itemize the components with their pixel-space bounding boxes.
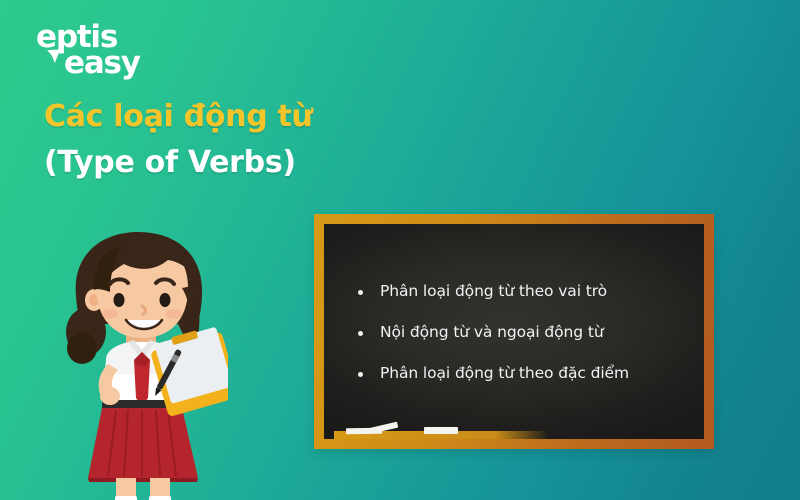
- list-item: Phân loại động từ theo đặc điểm: [356, 364, 692, 382]
- page-title-vietnamese: Các loại động từ: [44, 98, 464, 136]
- bullet-list: Phân loại động từ theo vai trò Nội động …: [356, 282, 692, 382]
- list-item: Nội động từ và ngoại động từ: [356, 323, 692, 341]
- schoolgirl-svg: [58, 228, 228, 500]
- list-item: Phân loại động từ theo vai trò: [356, 282, 692, 300]
- page-title-english: (Type of Verbs): [44, 144, 464, 182]
- logo-line-2: easy: [64, 48, 156, 79]
- blackboard: Phân loại động từ theo vai trò Nội động …: [314, 214, 714, 449]
- title-block: Các loại động từ (Type of Verbs): [44, 98, 464, 181]
- schoolgirl-illustration: [58, 228, 228, 500]
- chalk-piece-icon: [424, 427, 458, 434]
- blackboard-surface: Phân loại động từ theo vai trò Nội động …: [324, 224, 704, 439]
- leaf-swoosh-icon: [47, 48, 62, 64]
- brand-logo[interactable]: eptis easy: [36, 22, 156, 82]
- slide-canvas: eptis easy Các loại động từ (Type of Ver…: [0, 0, 800, 500]
